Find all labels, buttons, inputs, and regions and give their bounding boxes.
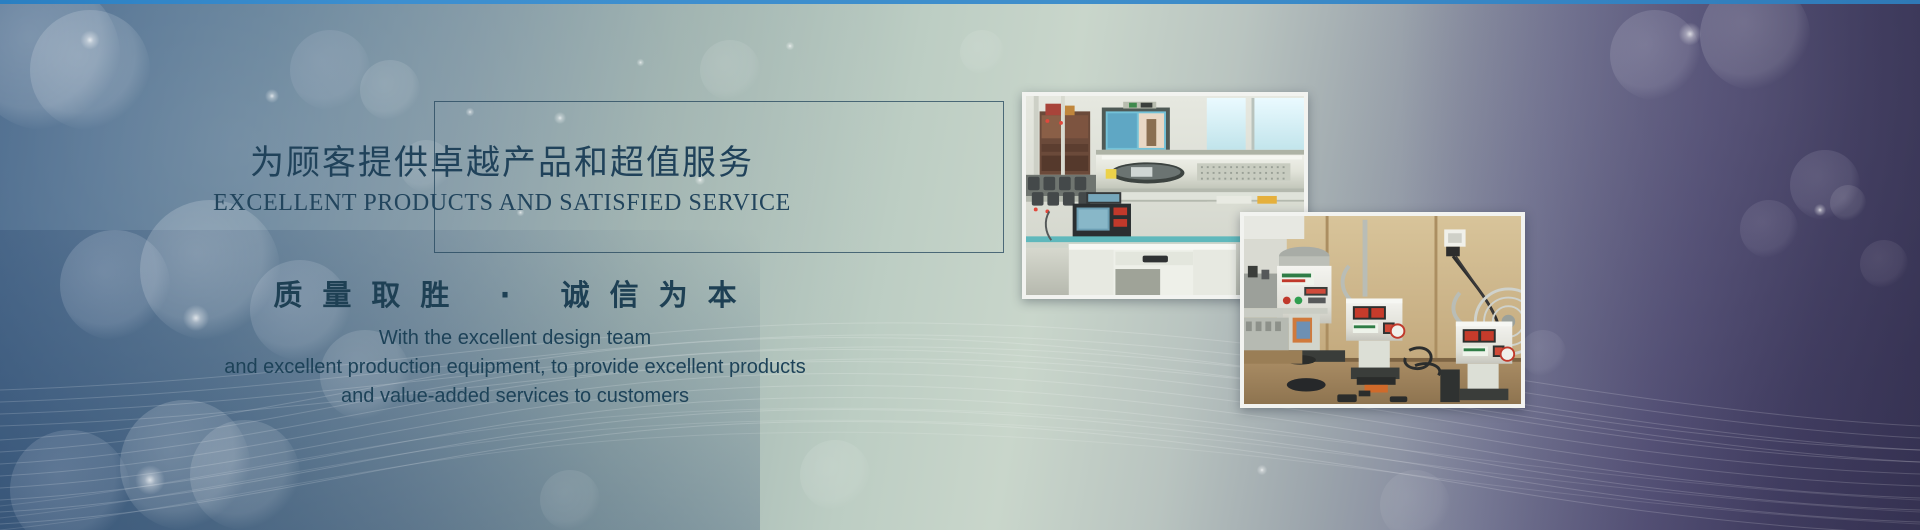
bokeh-circle <box>700 40 760 100</box>
photo-press-machines-image <box>1244 216 1521 404</box>
paragraph-line-3: and value-added services to customers <box>0 382 1030 411</box>
bokeh-circle <box>10 430 130 530</box>
bokeh-sparkle <box>133 463 167 497</box>
bokeh-circle <box>800 440 870 510</box>
bokeh-sparkle <box>636 58 645 67</box>
photo-press-machines <box>1240 212 1525 408</box>
bokeh-sparkle <box>79 29 101 51</box>
banner-slogan-cn: 质量取胜 · 诚信为本 <box>0 272 1030 314</box>
bokeh-sparkle <box>1256 464 1268 476</box>
bokeh-circle <box>1830 185 1866 221</box>
banner-title-cn: 为顾客提供卓越产品和超值服务 <box>0 135 1004 184</box>
bokeh-sparkle <box>1813 203 1827 217</box>
bokeh-circle <box>190 420 300 530</box>
top-accent-strip <box>0 0 1920 4</box>
banner-subtitle-en: EXCELLENT PRODUCTS AND SATISFIED SERVICE <box>0 190 1004 217</box>
bokeh-circle <box>540 470 600 530</box>
bokeh-circle <box>140 200 280 340</box>
bokeh-sparkle <box>264 88 280 104</box>
bokeh-sparkle <box>785 41 795 51</box>
bokeh-circle <box>1380 470 1450 530</box>
bokeh-circle <box>360 60 420 120</box>
light-glow-left <box>0 0 900 530</box>
bokeh-circle <box>120 400 250 530</box>
bokeh-sparkle <box>1677 21 1703 47</box>
bokeh-circle <box>960 30 1004 74</box>
bokeh-circle <box>30 10 150 130</box>
banner-paragraph: With the excellent design team and excel… <box>0 324 1030 411</box>
bokeh-circle <box>290 30 370 110</box>
paragraph-line-2: and excellent production equipment, to p… <box>0 353 1030 382</box>
bokeh-circle <box>1860 240 1908 288</box>
bokeh-circle <box>1740 200 1798 258</box>
bokeh-circle <box>0 0 120 130</box>
promo-banner: 为顾客提供卓越产品和超值服务 EXCELLENT PRODUCTS AND SA… <box>0 0 1920 530</box>
paragraph-line-1: With the excellent design team <box>0 324 1030 353</box>
bokeh-circle <box>1610 10 1700 100</box>
bokeh-circle <box>1790 150 1860 220</box>
bokeh-circle <box>1520 330 1566 376</box>
bokeh-circle <box>1700 0 1810 90</box>
